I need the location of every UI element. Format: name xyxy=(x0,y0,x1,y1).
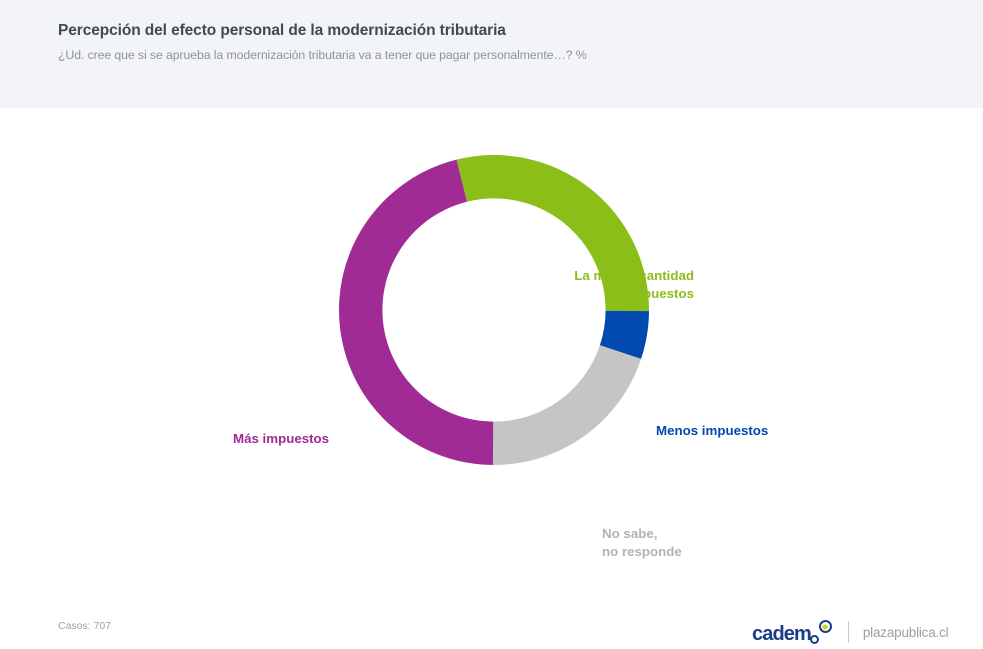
slide-canvas: Percepción del efecto personal de la mod… xyxy=(0,0,983,553)
donut-slice-group xyxy=(339,155,649,465)
donut-slice xyxy=(493,345,641,465)
slice-value-menos-impuestos: 5% xyxy=(608,420,629,436)
donut-slice xyxy=(339,160,493,465)
category-label-line1: No sabe, xyxy=(602,525,682,543)
brand-bar: cadem plazapublica.cl xyxy=(752,615,948,649)
category-label-menos-impuestos: Menos impuestos xyxy=(656,422,768,440)
category-label-la-misma-cantidad: La misma cantidad de impuestos xyxy=(562,267,694,302)
chart-area: 29% 5% 20% 46% La misma cantidad de impu… xyxy=(0,108,983,553)
category-label-line1: La misma cantidad xyxy=(562,267,694,285)
category-label-no-sabe-no-responde: No sabe, no responde xyxy=(602,525,682,560)
slice-value-mas-impuestos: 46% xyxy=(348,429,377,445)
brand-site-label: plazapublica.cl xyxy=(863,625,949,640)
brand-divider xyxy=(848,621,849,643)
category-label-mas-impuestos: Más impuestos xyxy=(233,430,329,448)
small-ring-icon xyxy=(810,635,819,644)
cadem-wordmark: cadem xyxy=(752,624,811,644)
header-band: Percepción del efecto personal de la mod… xyxy=(0,0,983,108)
page-title: Percepción del efecto personal de la mod… xyxy=(58,22,506,40)
sample-size-note: Casos: 707 xyxy=(58,620,111,632)
donut-svg xyxy=(339,155,649,465)
category-label-line2: de impuestos xyxy=(562,285,694,303)
category-label-line2: no responde xyxy=(602,543,682,561)
donut-chart xyxy=(339,155,649,465)
cadem-circles-icon xyxy=(810,620,832,644)
big-ring-icon xyxy=(819,620,832,633)
slice-value-no-sabe-no-responde: 20% xyxy=(534,506,563,522)
cadem-logo: cadem xyxy=(752,620,832,644)
page-subtitle: ¿Ud. cree que si se aprueba la moderniza… xyxy=(58,48,587,62)
